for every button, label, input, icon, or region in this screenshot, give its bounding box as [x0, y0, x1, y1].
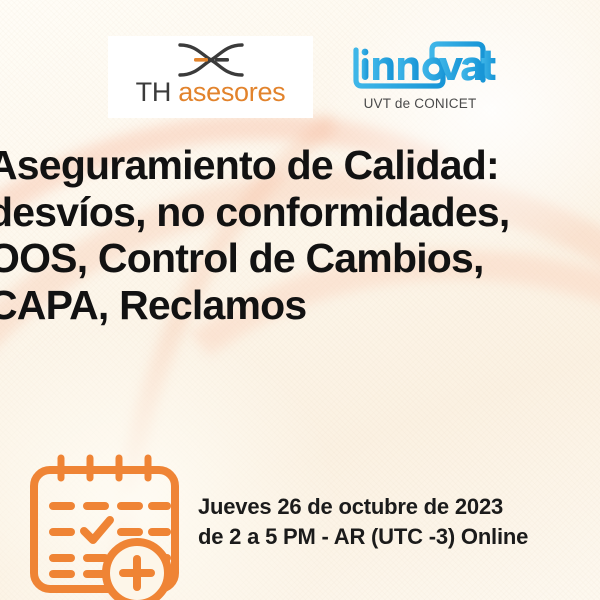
calendar-add-icon — [24, 448, 184, 600]
innovat-wordmark-icon — [344, 36, 496, 94]
dna-helix-icon — [172, 42, 250, 78]
headline-line-2: desvíos, no conformidades, — [0, 189, 600, 236]
date-line-1: Jueves 26 de octubre de 2023 — [198, 492, 600, 522]
headline: Aseguramiento de Calidad: desvíos, no co… — [0, 142, 600, 329]
logo-row: TH asesores — [0, 0, 600, 136]
th-asesores-logo: TH asesores — [108, 36, 313, 118]
innovat-logo: UVT de CONICET — [340, 36, 500, 122]
th-word-orange: asesores — [178, 77, 285, 107]
date-line-2: de 2 a 5 PM - AR (UTC -3) Online — [198, 522, 600, 552]
event-poster: TH asesores — [0, 0, 600, 600]
th-word-dark: TH — [136, 77, 179, 107]
th-asesores-wordmark: TH asesores — [136, 79, 286, 106]
headline-line-4: CAPA, Reclamos — [0, 282, 600, 329]
headline-line-1: Aseguramiento de Calidad: — [0, 142, 600, 189]
date-block: Jueves 26 de octubre de 2023 de 2 a 5 PM… — [198, 492, 600, 553]
headline-line-3: OOS, Control de Cambios, — [0, 235, 600, 282]
innovat-subtitle: UVT de CONICET — [364, 96, 477, 111]
event-details: Jueves 26 de octubre de 2023 de 2 a 5 PM… — [0, 430, 600, 600]
